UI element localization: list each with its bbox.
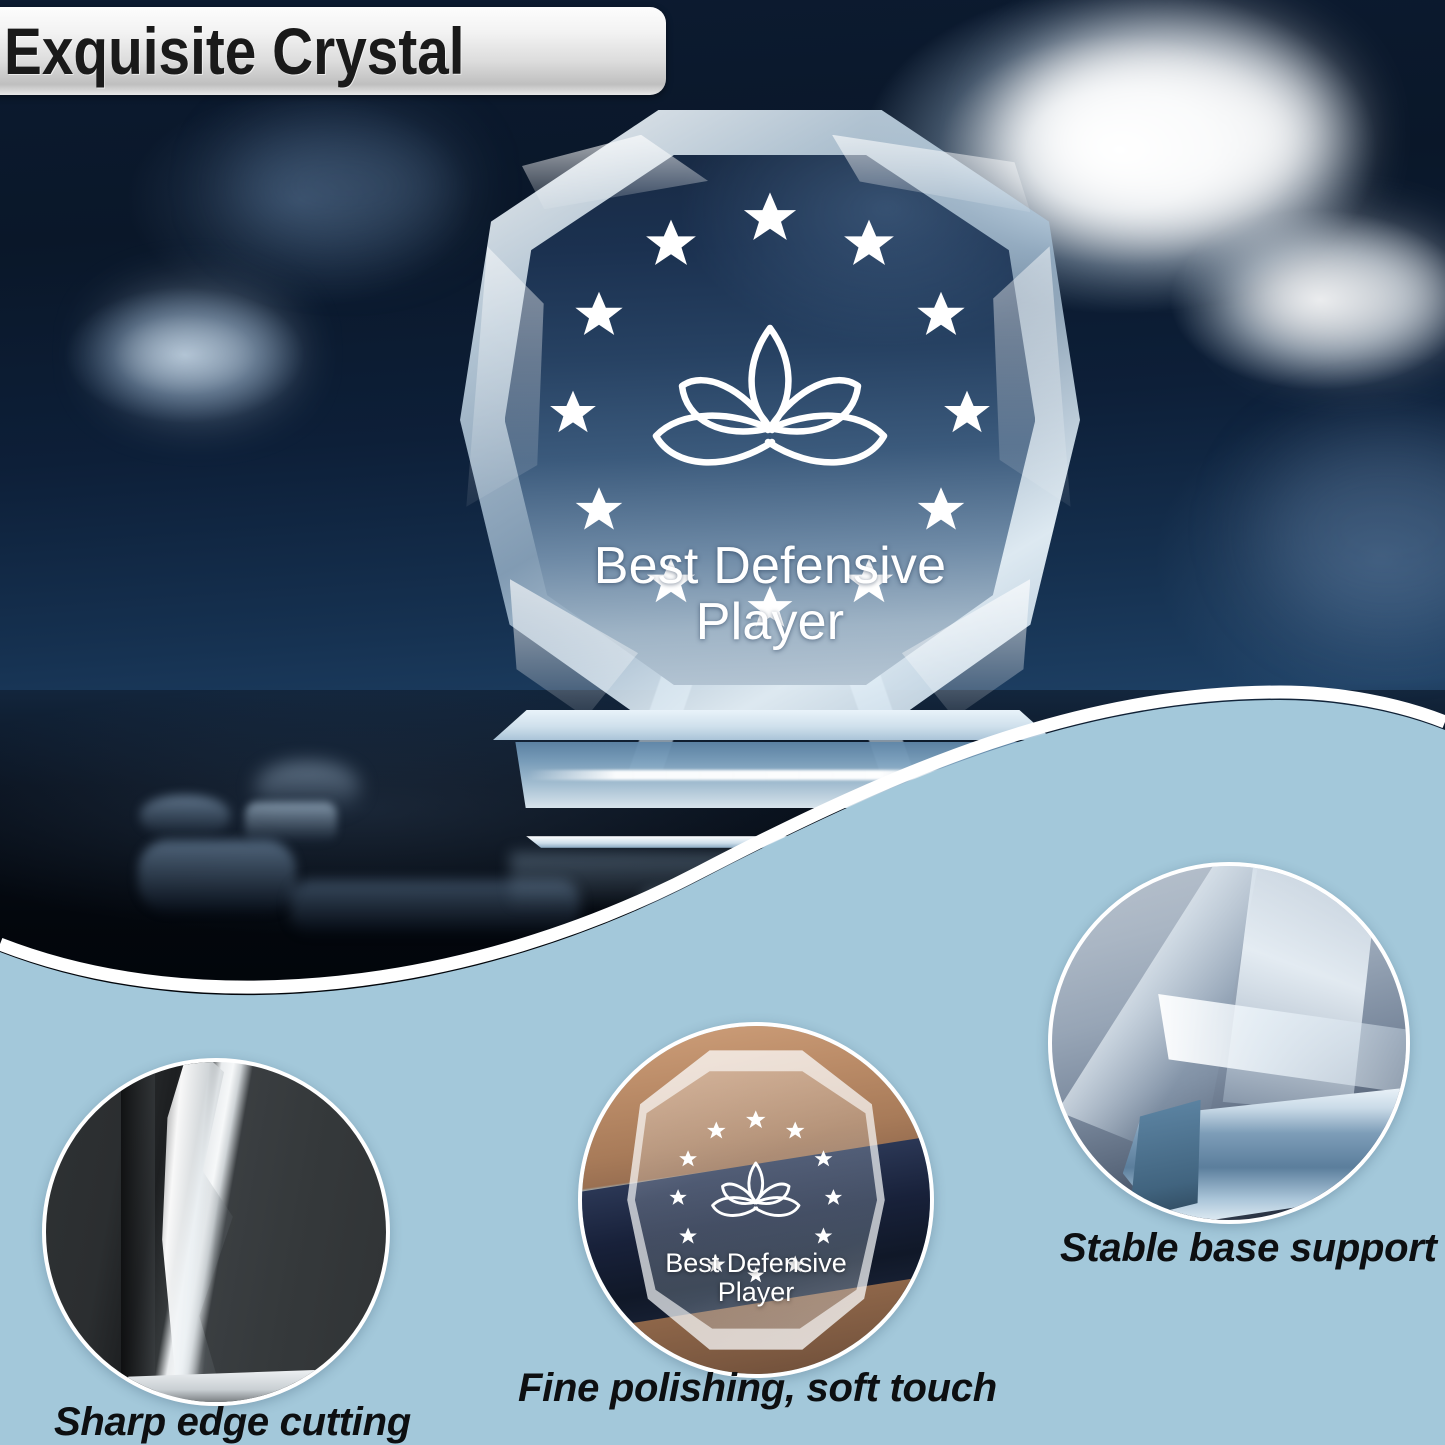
base-bottom-edge: [521, 836, 1025, 848]
award-base: [493, 710, 1053, 858]
crystal-award: Best Defensive Player: [455, 110, 1095, 870]
edge-dark-band: [121, 1062, 155, 1402]
base-reflection: [510, 852, 1040, 910]
hero-scene: Best Defensive Player Exquisite Crystal: [0, 0, 1445, 1010]
base-top-face: [493, 710, 1053, 740]
desk-object: [138, 840, 296, 912]
desk-object: [245, 802, 337, 842]
mini-award-text: Best Defensive Player: [631, 1249, 882, 1307]
mini-award-text-line-2: Player: [631, 1278, 882, 1307]
award-text-line-2: Player: [510, 594, 1031, 651]
caption-stable-base-support: Stable base support: [1060, 1226, 1437, 1271]
award-engraved-text: Best Defensive Player: [510, 538, 1031, 651]
edge-bevel-highlight: [148, 1058, 236, 1406]
mini-award-text-line-1: Best Defensive: [631, 1249, 882, 1278]
desk-object: [140, 795, 230, 837]
feature-thumb-stable-base-support: [1048, 862, 1410, 1224]
award-plaque: Best Defensive Player: [460, 110, 1080, 730]
feature-thumb-fine-polishing: Best Defensive Player: [578, 1022, 934, 1378]
title-banner: Exquisite Crystal: [0, 7, 666, 95]
mini-lotus-flower-icon: [713, 1163, 799, 1215]
award-text-line-1: Best Defensive: [510, 538, 1031, 595]
product-marketing-image: Best Defensive Player Exquisite Crystal: [0, 0, 1445, 1445]
caption-fine-polishing: Fine polishing, soft touch: [518, 1366, 997, 1411]
page-title: Exquisite Crystal: [4, 18, 465, 84]
feature-thumb-sharp-edge-cutting: [42, 1058, 390, 1406]
base-specular-highlight: [527, 770, 1020, 780]
caption-sharp-edge-cutting: Sharp edge cutting: [54, 1400, 411, 1445]
